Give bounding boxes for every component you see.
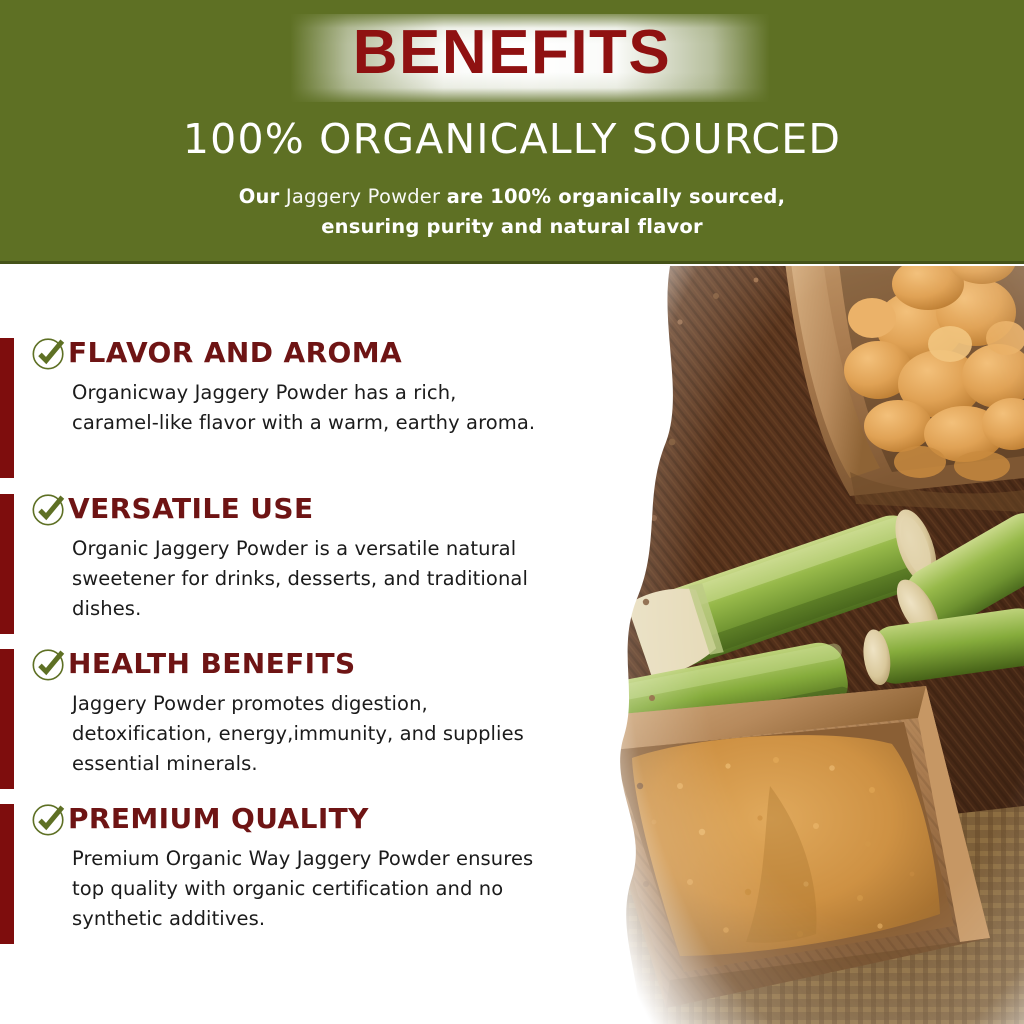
benefit-heading: PREMIUM QUALITY (68, 802, 369, 835)
benefit-heading: HEALTH BENEFITS (68, 647, 356, 680)
accent-bar (0, 804, 14, 944)
subcopy-lead: Our (239, 185, 280, 208)
check-circle-icon (30, 800, 68, 838)
benefit-heading: FLAVOR AND AROMA (68, 336, 402, 369)
subcopy-line2: ensuring purity and natural flavor (321, 215, 703, 238)
page-title: BENEFITS (0, 22, 1024, 84)
product-photo-image (520, 266, 1024, 1024)
benefit-body: Premium Organic Way Jaggery Powder ensur… (72, 844, 542, 934)
accent-bar (0, 338, 14, 478)
benefit-heading: VERSATILE USE (68, 492, 313, 525)
subcopy-product: Jaggery Powder (286, 185, 440, 208)
header-band: BENEFITS 100% ORGANICALLY SOURCED Our Ja… (0, 0, 1024, 264)
header-subcopy: Our Jaggery Powder are 100% organically … (0, 182, 1024, 242)
benefit-body: Organicway Jaggery Powder has a rich, ca… (72, 378, 542, 438)
product-photo (520, 266, 1024, 1024)
check-circle-icon (30, 645, 68, 683)
tagline: 100% ORGANICALLY SOURCED (0, 118, 1024, 161)
accent-bar (0, 649, 14, 789)
benefit-body: Jaggery Powder promotes digestion, detox… (72, 689, 542, 779)
benefits-poster: BENEFITS 100% ORGANICALLY SOURCED Our Ja… (0, 0, 1024, 1024)
benefit-body: Organic Jaggery Powder is a versatile na… (72, 534, 542, 624)
check-circle-icon (30, 490, 68, 528)
subcopy-rest: are 100% organically sourced, (447, 185, 786, 208)
check-circle-icon (30, 334, 68, 372)
accent-bar (0, 494, 14, 634)
